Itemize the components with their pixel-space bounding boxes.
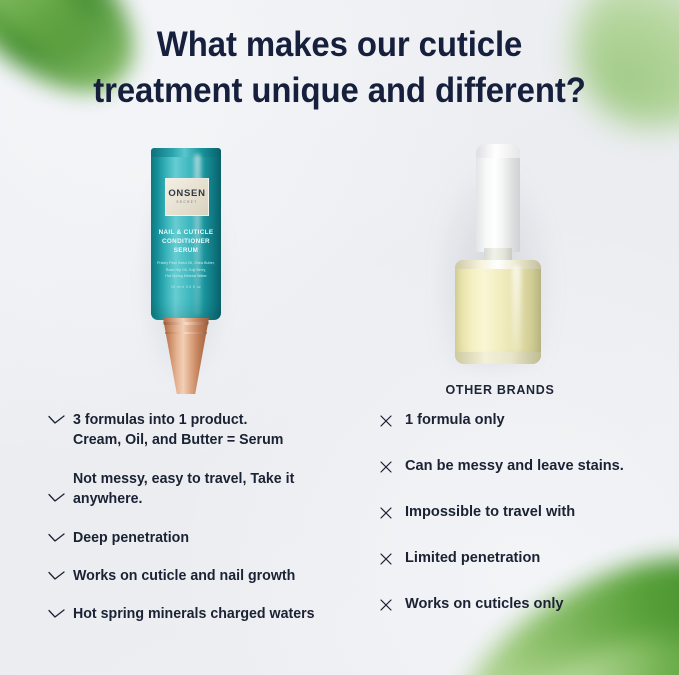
tube-product-text: NAIL & CUTICLE CONDITIONER SERUM Prickly… xyxy=(154,228,218,289)
cross-icon xyxy=(380,507,397,519)
page-title-line-2: treatment unique and different? xyxy=(20,68,658,114)
check-icon xyxy=(48,415,65,425)
list-item: 3 formulas into 1 product. Cream, Oil, a… xyxy=(48,410,358,451)
page-title: What makes our cuticle treatment unique … xyxy=(20,22,658,114)
tube-volume: 15 ml e 0.5 fl oz xyxy=(154,285,218,289)
pros-item-text: 3 formulas into 1 product. Cream, Oil, a… xyxy=(73,410,283,451)
cons-item-text: Can be messy and leave stains. xyxy=(405,456,624,477)
pros-item-text: Not messy, easy to travel, Take it anywh… xyxy=(73,469,294,510)
cross-icon xyxy=(380,415,397,427)
list-item: Hot spring minerals charged waters xyxy=(48,604,358,624)
pros-item-text: Deep penetration xyxy=(73,528,189,548)
other-brand-bottle-image xyxy=(452,138,546,370)
bottle-body xyxy=(455,260,541,364)
comparison-lists: 3 formulas into 1 product. Cream, Oil, a… xyxy=(0,410,679,660)
cons-item-text: Impossible to travel with xyxy=(405,502,575,523)
pros-column: 3 formulas into 1 product. Cream, Oil, a… xyxy=(48,410,358,643)
tube-crimp-seal xyxy=(151,148,221,157)
tube-title-line-3: SERUM xyxy=(154,246,218,255)
list-item: Impossible to travel with xyxy=(380,502,660,523)
bottle-base xyxy=(455,352,541,364)
page-title-line-1: What makes our cuticle xyxy=(20,22,658,68)
check-icon xyxy=(48,493,65,503)
infographic-page: What makes our cuticle treatment unique … xyxy=(0,0,679,675)
tube-cap-ring-lower xyxy=(165,332,207,334)
check-icon xyxy=(48,609,65,619)
cross-icon xyxy=(380,599,397,611)
check-icon xyxy=(48,533,65,543)
list-item: 1 formula only xyxy=(380,410,660,431)
tube-title-line-1: NAIL & CUTICLE xyxy=(154,228,218,237)
cons-column: 1 formula only Can be messy and leave st… xyxy=(380,410,660,640)
cons-item-text: 1 formula only xyxy=(405,410,505,431)
bottle-cap xyxy=(476,144,520,252)
tube-brand-label: ONSEN SECRET xyxy=(165,178,209,216)
list-item: Can be messy and leave stains. xyxy=(380,456,660,477)
bottle-shoulder-rim xyxy=(455,260,541,269)
other-brands-caption: OTHER BRANDS xyxy=(420,383,580,397)
list-item: Works on cuticle and nail growth xyxy=(48,566,358,586)
bottle-cap-top xyxy=(476,144,520,158)
bottle-highlight xyxy=(512,266,521,352)
list-item: Limited penetration xyxy=(380,548,660,569)
cons-item-text: Limited penetration xyxy=(405,548,540,569)
list-item: Not messy, easy to travel, Take it anywh… xyxy=(48,469,358,510)
brand-name: ONSEN xyxy=(168,189,205,199)
tube-ingredients: Prickly Pear Seed Oil, Shea Butter, Rose… xyxy=(154,260,218,278)
cross-icon xyxy=(380,461,397,473)
tube-cap-ring-upper xyxy=(163,322,209,325)
cross-icon xyxy=(380,553,397,565)
tube-title-line-2: CONDITIONER xyxy=(154,237,218,246)
pros-item-text: Works on cuticle and nail growth xyxy=(73,566,295,586)
pros-item-text: Hot spring minerals charged waters xyxy=(73,604,315,624)
cons-item-text: Works on cuticles only xyxy=(405,594,564,615)
list-item: Deep penetration xyxy=(48,528,358,548)
onsen-serum-tube-image: ONSEN SECRET NAIL & CUTICLE CONDITIONER … xyxy=(146,142,226,400)
brand-subtitle: SECRET xyxy=(176,201,197,204)
product-comparison-images: ONSEN SECRET NAIL & CUTICLE CONDITIONER … xyxy=(0,138,679,400)
check-icon xyxy=(48,571,65,581)
list-item: Works on cuticles only xyxy=(380,594,660,615)
